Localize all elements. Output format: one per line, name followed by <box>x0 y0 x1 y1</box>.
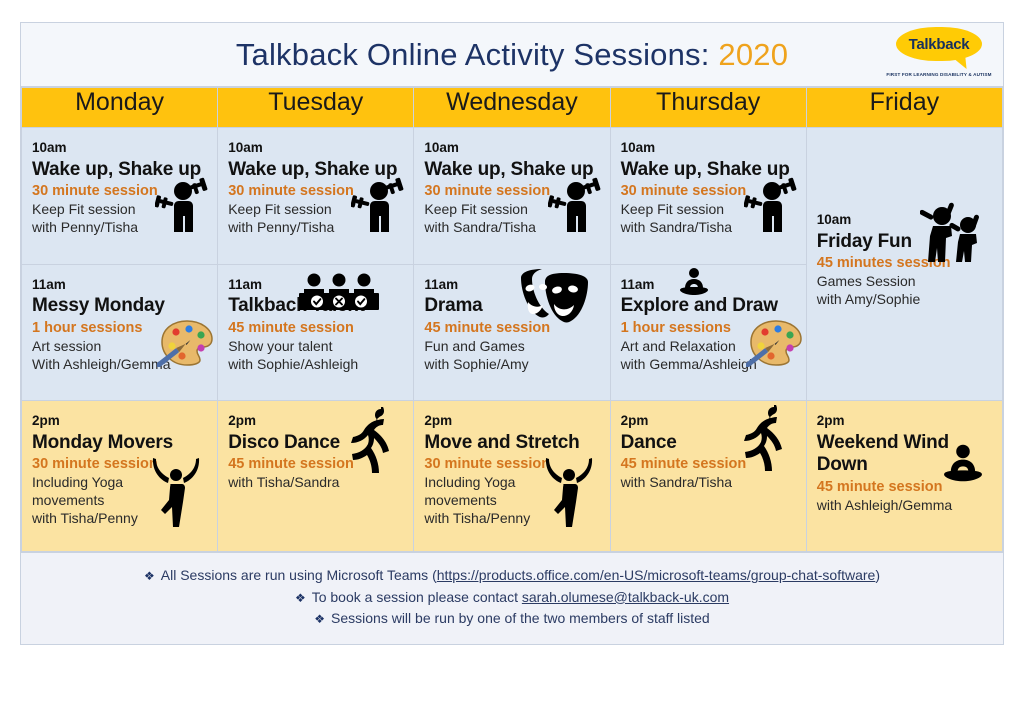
session-time: 10am <box>228 140 403 157</box>
session-name: Monday Movers <box>32 432 207 454</box>
title-bar: Talkback Online Activity Sessions: 2020 … <box>21 23 1003 87</box>
session-desc-line2: with Amy/Sophie <box>817 291 992 309</box>
day-header-thursday: Thursday <box>610 88 806 128</box>
session-card-fri-pm: 2pm Weekend Wind Down 45 minute session … <box>807 401 1002 551</box>
session-desc-line1: Fun and Games <box>424 338 599 356</box>
session-desc-line1: Games Session <box>817 273 992 291</box>
yoga-tree-pose-icon <box>544 453 594 534</box>
cell-friday-2pm[interactable]: 2pm Weekend Wind Down 45 minute session … <box>806 401 1002 552</box>
page-title: Talkback Online Activity Sessions: 2020 <box>236 37 788 73</box>
footer-line-2: ❖To book a session please contact sarah.… <box>21 587 1003 609</box>
cell-thursday-11am[interactable]: 11am Explore and Draw 1 hour sessions Ar… <box>610 264 806 401</box>
cell-monday-10am[interactable]: 10am Wake up, Shake up 30 minute session… <box>22 128 218 265</box>
session-desc-line1: Show your talent <box>228 338 403 356</box>
session-desc-line1: with Ashleigh/Gemma <box>817 497 992 515</box>
cell-tuesday-2pm[interactable]: 2pm Disco Dance 45 minute session with T… <box>218 401 414 552</box>
cell-thursday-2pm[interactable]: 2pm Dance 45 minute session with Sandra/… <box>610 401 806 552</box>
weightlifter-icon <box>351 176 407 239</box>
day-header-monday: Monday <box>22 88 218 128</box>
session-card-thu-am1: 10am Wake up, Shake up 30 minute session… <box>611 128 806 248</box>
yoga-tree-pose-icon <box>151 453 201 534</box>
cell-friday-morning[interactable]: 10am Friday Fun 45 minutes session Games… <box>806 128 1002 401</box>
day-header-friday: Friday <box>806 88 1002 128</box>
session-time: 10am <box>32 140 207 157</box>
session-time: 11am <box>32 277 207 294</box>
footer-line-3: ❖Sessions will be run by one of the two … <box>21 608 1003 630</box>
session-time: 2pm <box>32 413 207 430</box>
session-desc-line2: with Sophie/Ashleigh <box>228 356 403 374</box>
talkback-logo: Talkback FIRST FOR LEARNING DISABILITY &… <box>889 27 989 83</box>
diamond-bullet-icon: ❖ <box>144 569 155 583</box>
day-header-wednesday: Wednesday <box>414 88 610 128</box>
diamond-bullet-icon: ❖ <box>295 591 306 605</box>
footer-line-1-text: All Sessions are run using Microsoft Tea… <box>161 567 437 583</box>
microsoft-teams-link[interactable]: https://products.office.com/en-US/micros… <box>437 567 876 583</box>
weightlifter-icon <box>744 176 800 239</box>
afternoon-2pm-row: 2pm Monday Movers 30 minute session Incl… <box>22 401 1003 552</box>
session-card-mon-pm: 2pm Monday Movers 30 minute session Incl… <box>22 401 217 551</box>
session-card-thu-am2: 11am Explore and Draw 1 hour sessions Ar… <box>611 265 806 385</box>
session-time: 2pm <box>424 413 599 430</box>
dancer-icon <box>734 405 792 484</box>
session-card-tue-am1: 10am Wake up, Shake up 30 minute session… <box>218 128 413 248</box>
session-card-mon-am2: 11am Messy Monday 1 hour sessions Art se… <box>22 265 217 385</box>
cell-tuesday-11am[interactable]: 11am Talkback Talent 45 minute session S… <box>218 264 414 401</box>
page-title-year: 2020 <box>718 37 788 72</box>
weightlifter-icon <box>155 176 211 239</box>
cell-tuesday-10am[interactable]: 10am Wake up, Shake up 30 minute session… <box>218 128 414 265</box>
morning-10am-row: 10am Wake up, Shake up 30 minute session… <box>22 128 1003 265</box>
booking-email-link[interactable]: sarah.olumese@talkback-uk.com <box>522 589 729 605</box>
poster-frame: Talkback Online Activity Sessions: 2020 … <box>20 22 1004 645</box>
meditation-icon <box>940 443 986 492</box>
theatre-masks-icon <box>516 269 602 336</box>
footer-notes: ❖All Sessions are run using Microsoft Te… <box>21 552 1003 644</box>
meditation-icon <box>677 267 711 304</box>
footer-line-2-text: To book a session please contact <box>312 589 522 605</box>
session-card-fri-am: 10am Friday Fun 45 minutes session Games… <box>807 128 1002 400</box>
poster-page: Talkback Online Activity Sessions: 2020 … <box>0 0 1024 724</box>
session-name: Move and Stretch <box>424 432 599 454</box>
session-card-wed-am2: 11am Drama 45 minute session Fun and Gam… <box>414 265 609 385</box>
cell-wednesday-2pm[interactable]: 2pm Move and Stretch 30 minute session I… <box>414 401 610 552</box>
cell-monday-11am[interactable]: 11am Messy Monday 1 hour sessions Art se… <box>22 264 218 401</box>
cell-thursday-10am[interactable]: 10am Wake up, Shake up 30 minute session… <box>610 128 806 265</box>
session-card-tue-pm: 2pm Disco Dance 45 minute session with T… <box>218 401 413 551</box>
cell-monday-2pm[interactable]: 2pm Monday Movers 30 minute session Incl… <box>22 401 218 552</box>
cell-wednesday-11am[interactable]: 11am Drama 45 minute session Fun and Gam… <box>414 264 610 401</box>
dancer-icon <box>341 407 399 486</box>
session-card-thu-pm: 2pm Dance 45 minute session with Sandra/… <box>611 401 806 551</box>
session-card-tue-am2: 11am Talkback Talent 45 minute session S… <box>218 265 413 385</box>
diamond-bullet-icon: ❖ <box>314 612 325 626</box>
logo-wordmark: Talkback <box>909 36 970 53</box>
footer-line-1: ❖All Sessions are run using Microsoft Te… <box>21 565 1003 587</box>
judging-panel-icon <box>297 271 381 320</box>
session-card-wed-pm: 2pm Move and Stretch 30 minute session I… <box>414 401 609 551</box>
page-title-main: Talkback Online Activity Sessions: <box>236 37 710 72</box>
session-time: 10am <box>424 140 599 157</box>
weightlifter-icon <box>548 176 604 239</box>
session-time: 10am <box>621 140 796 157</box>
session-card-wed-am1: 10am Wake up, Shake up 30 minute session… <box>414 128 609 248</box>
footer-line-1-suffix: ) <box>875 567 880 583</box>
session-duration: 45 minute session <box>228 319 403 338</box>
footer-line-3-text: Sessions will be run by one of the two m… <box>331 610 710 626</box>
paint-palette-icon <box>746 315 804 372</box>
activity-schedule-table: Monday Tuesday Wednesday Thursday Friday… <box>21 87 1003 552</box>
celebrating-people-icon <box>920 200 988 267</box>
logo-tagline: FIRST FOR LEARNING DISABILITY & AUTISM <box>886 72 991 77</box>
session-card-mon-am1: 10am Wake up, Shake up 30 minute session… <box>22 128 217 248</box>
day-header-tuesday: Tuesday <box>218 88 414 128</box>
cell-wednesday-10am[interactable]: 10am Wake up, Shake up 30 minute session… <box>414 128 610 265</box>
paint-palette-icon <box>157 315 215 372</box>
session-time: 2pm <box>817 413 992 430</box>
table-header-row: Monday Tuesday Wednesday Thursday Friday <box>22 88 1003 128</box>
session-desc-line2: with Sophie/Amy <box>424 356 599 374</box>
speech-bubble-icon: Talkback <box>896 27 982 61</box>
